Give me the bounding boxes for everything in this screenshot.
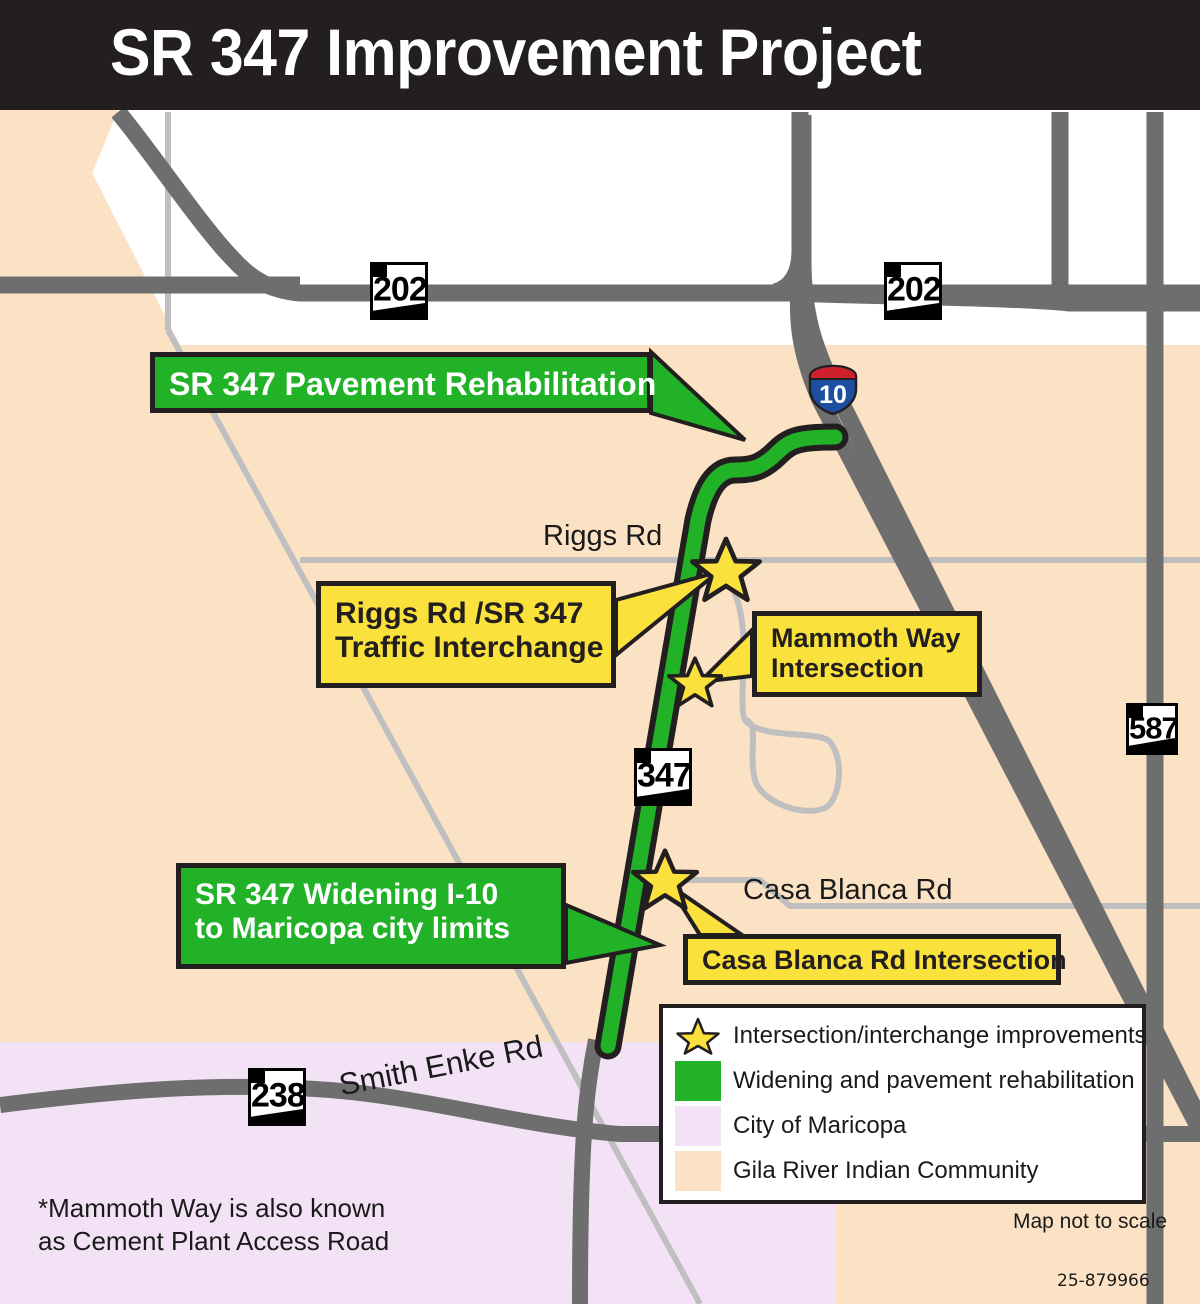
- page-title: SR 347 Improvement Project: [110, 14, 921, 90]
- callout-mammoth-way-line-1: Mammoth Way: [771, 623, 963, 653]
- legend-label-gila-river: Gila River Indian Community: [733, 1157, 1038, 1185]
- legend-item-widening: Widening and pavement rehabilitation: [675, 1061, 1135, 1101]
- callout-casa-blanca: Casa Blanca Rd Intersection: [683, 934, 1061, 985]
- legend: Intersection/interchange improvements Wi…: [659, 1004, 1146, 1204]
- legend-item-intersection: Intersection/interchange improvements: [675, 1016, 1147, 1056]
- callout-riggs-interchange-line-1: Riggs Rd /SR 347: [335, 597, 597, 631]
- legend-swatch-star: [675, 1016, 721, 1056]
- star-icon: [675, 1016, 721, 1056]
- legend-swatch-lavender: [675, 1106, 721, 1146]
- legend-label-maricopa: City of Maricopa: [733, 1112, 906, 1140]
- shield-587-label: 587: [1129, 710, 1175, 746]
- legend-label-widening: Widening and pavement rehabilitation: [733, 1067, 1135, 1095]
- mammoth-way-footnote-line-2: as Cement Plant Access Road: [38, 1225, 389, 1258]
- callout-pavement-rehab: SR 347 Pavement Rehabilitation: [150, 352, 652, 413]
- shield-202-west: 202: [370, 262, 428, 320]
- mammoth-way-footnote: *Mammoth Way is also known as Cement Pla…: [38, 1192, 389, 1259]
- callout-mammoth-way: Mammoth Way Intersection: [752, 611, 982, 697]
- callout-pavement-rehab-line-1: SR 347 Pavement Rehabilitation: [169, 367, 633, 403]
- shield-i10: 10: [805, 363, 861, 417]
- shield-347-label: 347: [637, 757, 689, 796]
- map-page: SR 347 Improvement Project 202 202 10 34…: [0, 0, 1200, 1304]
- shield-238-label: 238: [251, 1077, 303, 1116]
- shield-202-east-label: 202: [887, 271, 939, 310]
- shield-587: 587: [1126, 703, 1178, 755]
- shield-i10-label: 10: [819, 381, 847, 409]
- callout-riggs-interchange-line-2: Traffic Interchange: [335, 631, 597, 665]
- legend-label-intersection: Intersection/interchange improvements: [733, 1022, 1147, 1050]
- casa-blanca-rd-label: Casa Blanca Rd: [743, 874, 953, 907]
- riggs-rd-label: Riggs Rd: [543, 520, 662, 553]
- title-bar: SR 347 Improvement Project: [0, 0, 1200, 110]
- callout-mammoth-way-line-2: Intersection: [771, 653, 963, 683]
- callout-widening-line-2: to Maricopa city limits: [195, 912, 547, 946]
- legend-swatch-green: [675, 1061, 721, 1101]
- shield-202-east: 202: [884, 262, 942, 320]
- document-id: 25-879966: [1057, 1271, 1150, 1291]
- shield-202-west-label: 202: [373, 271, 425, 310]
- callout-widening-line-1: SR 347 Widening I-10: [195, 878, 547, 912]
- callout-riggs-interchange: Riggs Rd /SR 347 Traffic Interchange: [316, 581, 616, 688]
- interstate-shield-icon: 10: [805, 363, 861, 417]
- scale-note: Map not to scale: [1013, 1210, 1167, 1234]
- shield-347: 347: [634, 748, 692, 806]
- callout-casa-blanca-line-1: Casa Blanca Rd Intersection: [702, 945, 1042, 975]
- mammoth-way-footnote-line-1: *Mammoth Way is also known: [38, 1192, 389, 1225]
- legend-item-gila-river: Gila River Indian Community: [675, 1151, 1038, 1191]
- shield-238: 238: [248, 1068, 306, 1126]
- legend-item-maricopa: City of Maricopa: [675, 1106, 906, 1146]
- legend-swatch-peach: [675, 1151, 721, 1191]
- callout-widening: SR 347 Widening I-10 to Maricopa city li…: [176, 863, 566, 969]
